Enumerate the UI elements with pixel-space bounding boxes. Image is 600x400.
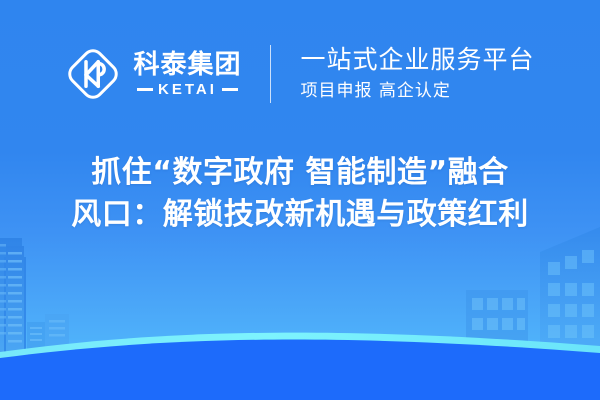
right-tall-tower bbox=[540, 227, 600, 362]
logo-lockup[interactable]: 科泰集团 KETAI 一站式企业服务平台 项目申报 高企认定 bbox=[65, 45, 534, 103]
ketai-diamond-logo-icon bbox=[65, 46, 121, 102]
slogan-secondary: 项目申报 高企认定 bbox=[301, 80, 535, 102]
headline-line-2: 风口：解锁技改新机遇与政策红利 bbox=[0, 194, 600, 236]
promo-banner: 科泰集团 KETAI 一站式企业服务平台 项目申报 高企认定 抓住“数字政府 智… bbox=[0, 0, 600, 400]
slogan-primary: 一站式企业服务平台 bbox=[301, 46, 535, 75]
logo-dash-right bbox=[222, 88, 238, 91]
headline-line-1: 抓住“数字政府 智能制造”融合 bbox=[0, 152, 600, 194]
headline: 抓住“数字政府 智能制造”融合 风口：解锁技改新机遇与政策红利 bbox=[0, 152, 600, 236]
logo-company-name-cn: 科泰集团 bbox=[133, 52, 241, 78]
logo-company-name-en: KETAI bbox=[158, 82, 217, 97]
brand-header: 科泰集团 KETAI 一站式企业服务平台 项目申报 高企认定 bbox=[0, 34, 600, 114]
slogan-block: 一站式企业服务平台 项目申报 高企认定 bbox=[301, 46, 535, 102]
header-divider bbox=[270, 45, 271, 103]
ground-blue-area bbox=[0, 340, 600, 400]
left-tall-tower bbox=[0, 238, 26, 352]
logo-dash-left bbox=[137, 88, 153, 91]
logo-wordmark: 科泰集团 KETAI bbox=[133, 52, 241, 97]
logo-company-name-en-row: KETAI bbox=[137, 82, 238, 97]
